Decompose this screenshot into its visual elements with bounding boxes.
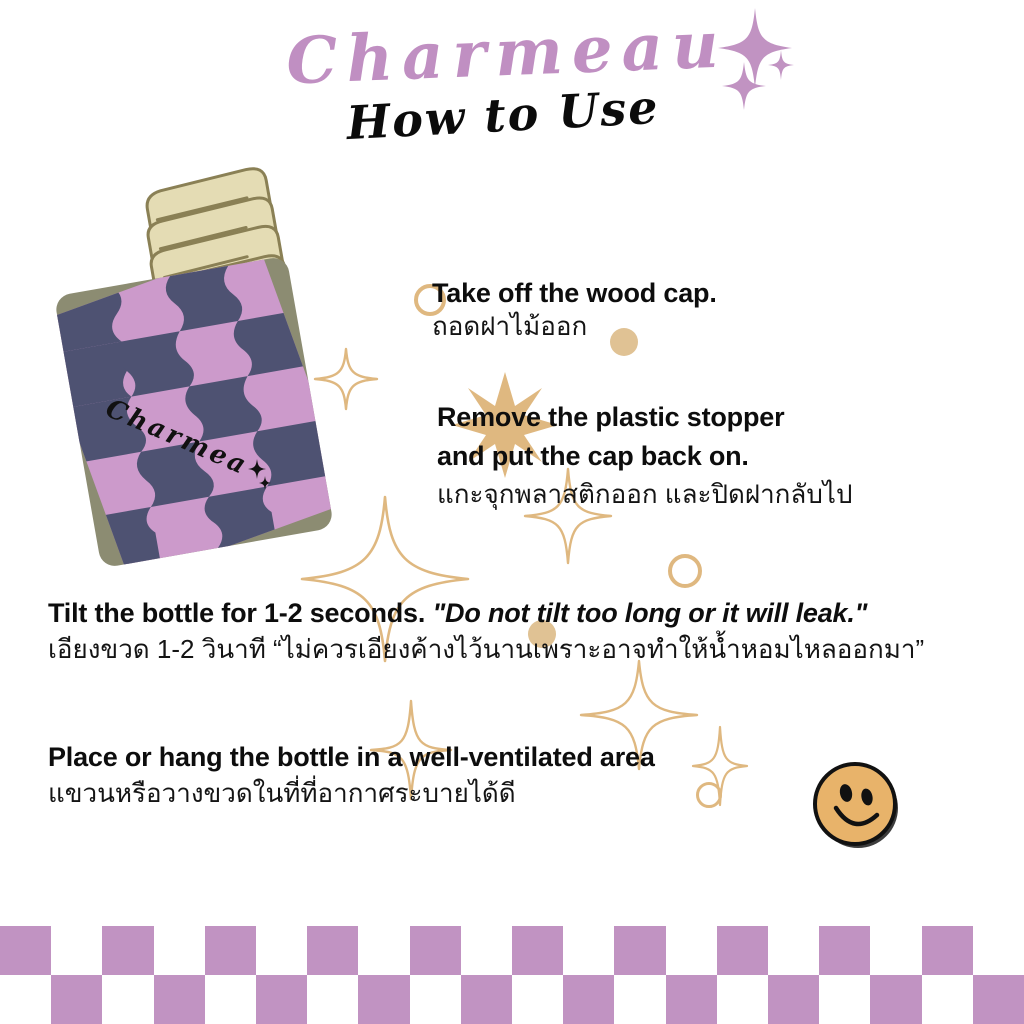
step-1: Take off the wood cap. ถอดฝาไม้ออก [432,278,717,343]
step-1-th: ถอดฝาไม้ออก [432,310,717,343]
step-3-th: เอียงขวด 1-2 วินาที “ไม่ควรเอียงค้างไว้น… [48,633,1018,667]
step-3: Tilt the bottle for 1-2 seconds. "Do not… [48,597,1018,667]
title-block: Charmeau How to Use [0,22,1024,138]
step-3-en-quote: "Do not tilt too long or it will leak." [432,598,867,628]
checker-row-bottom [0,975,1024,1024]
step-2-th: แกะจุกพลาสติกออก และปิดฝากลับไป [437,478,852,512]
step-2-en-line-1: Remove the plastic stopper [437,398,852,437]
checkerboard-footer [0,926,1024,1024]
checker-row-top [0,926,1024,975]
step-3-en-line: Tilt the bottle for 1-2 seconds. "Do not… [48,597,1018,629]
poster-canvas: Charmeau How to Use [0,0,1024,1024]
step-2-en-line-2: and put the cap back on. [437,437,852,476]
step-4-th: แขวนหรือวางขวดในที่ที่อากาศระบายได้ดี [48,777,848,811]
circle-outline-2 [668,554,702,588]
perfume-bottle-illustration: Charmeau [58,178,388,558]
step-3-en: Tilt the bottle for 1-2 seconds. [48,598,432,628]
step-2: Remove the plastic stopper and put the c… [437,398,852,512]
step-1-en: Take off the wood cap. [432,278,717,308]
step-4: Place or hang the bottle in a well-venti… [48,741,848,811]
smiley-face-icon [810,758,902,850]
step-4-en: Place or hang the bottle in a well-venti… [48,741,848,773]
